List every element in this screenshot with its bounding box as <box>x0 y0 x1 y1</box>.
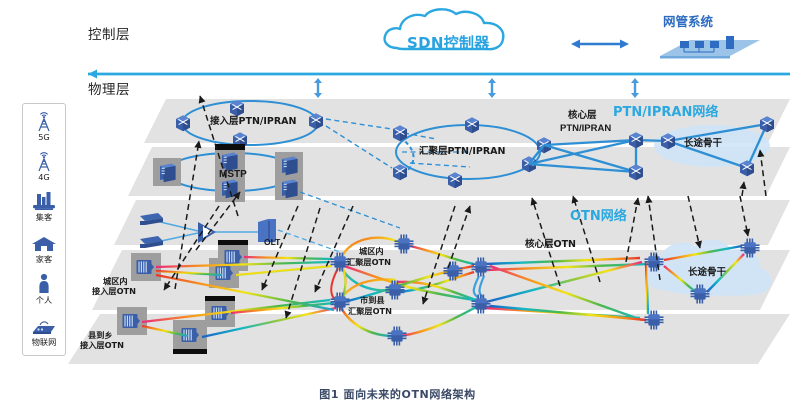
otn-backbone-label: 长途骨干 <box>688 268 726 279</box>
cell-tower-4g-icon <box>33 151 55 172</box>
otn-core-label: 核心层OTN <box>525 240 576 251</box>
legend-label-5g: 5G <box>38 132 50 142</box>
otn-access-urban-label-2: 接入层OTN <box>92 287 136 296</box>
legend-item-iot[interactable]: 物联网 <box>23 315 65 348</box>
sdn-controller-label: SDN控制器 <box>407 35 490 52</box>
legend-label-iot: 物联网 <box>32 336 57 348</box>
legend-item-4g[interactable]: 4G <box>23 151 65 182</box>
otn-network-label: OTN网络 <box>570 210 627 225</box>
home-house-icon <box>31 232 57 253</box>
legend-label-personal: 个人 <box>36 294 52 306</box>
otn-access-rural-label-1: 县到乡 <box>88 331 113 340</box>
sdh-node <box>160 164 176 183</box>
ptn-ipran-network-label: PTN/IPRAN网络 <box>613 106 718 121</box>
figure-caption: 图1 面向未来的OTN网络架构 <box>0 386 795 402</box>
mstp-highlight-bar <box>215 144 245 150</box>
legend-label-enterprise: 集客 <box>36 211 52 223</box>
otn-access-rural-label-2: 接入层OTN <box>80 341 124 350</box>
network-diagram-svg <box>0 0 795 419</box>
nms-label: 网管系统 <box>663 15 713 29</box>
agg-ptn-ring-label: 汇聚层PTN/IPRAN <box>419 147 505 158</box>
sdh-node <box>222 180 238 199</box>
otn-access-node <box>225 250 243 264</box>
sdh-node <box>282 157 298 176</box>
core-ptn-label-line1: 核心层 <box>568 111 597 122</box>
otn-agg-county-label-2: 汇聚层OTN <box>348 307 392 316</box>
otn-access-node <box>216 266 234 280</box>
core-ptn-label-line2: PTN/IPRAN <box>560 124 611 135</box>
legend-item-enterprise[interactable]: 集客 <box>23 190 65 223</box>
figure-canvas: 5G 4G <box>0 0 795 419</box>
control-layer-label: 控制层 <box>88 28 130 43</box>
legend-label-home: 家客 <box>36 253 52 265</box>
legend-item-5g[interactable]: 5G <box>23 111 65 142</box>
iot-gateway-icon <box>29 315 59 336</box>
mstp-ring-label: MSTP <box>219 169 247 180</box>
sdh-node <box>282 180 298 199</box>
device-type-legend: 5G 4G <box>22 103 66 356</box>
legend-label-4g: 4G <box>38 172 50 182</box>
otn-agg-county-label-1: 市到县 <box>360 296 385 305</box>
otn-access-node <box>123 314 141 328</box>
person-icon <box>37 273 51 294</box>
otn-access-urban-label-1: 城区内 <box>103 277 128 286</box>
enterprise-building-icon <box>31 190 57 211</box>
nms-server-icon <box>660 36 760 59</box>
bus-arrow-heads <box>314 78 639 98</box>
olt-label: OLT <box>264 238 280 248</box>
ptn-backbone-label: 长途骨干 <box>684 139 722 150</box>
cell-tower-5g-icon <box>33 111 55 132</box>
legend-item-home[interactable]: 家客 <box>23 232 65 265</box>
otn-agg-urban-label-1: 城区内 <box>359 247 384 256</box>
otn-access-node <box>137 260 155 274</box>
legend-item-personal[interactable]: 个人 <box>23 273 65 306</box>
double-arrow-icon <box>571 40 629 49</box>
physical-layer-label: 物理层 <box>88 83 130 98</box>
bus-down-arrows <box>318 80 635 96</box>
otn-agg-urban-label-2: 汇聚层OTN <box>347 258 391 267</box>
control-plane-bus <box>88 70 790 79</box>
access-ptn-ring-label: 接入层PTN/IPRAN <box>210 117 296 128</box>
